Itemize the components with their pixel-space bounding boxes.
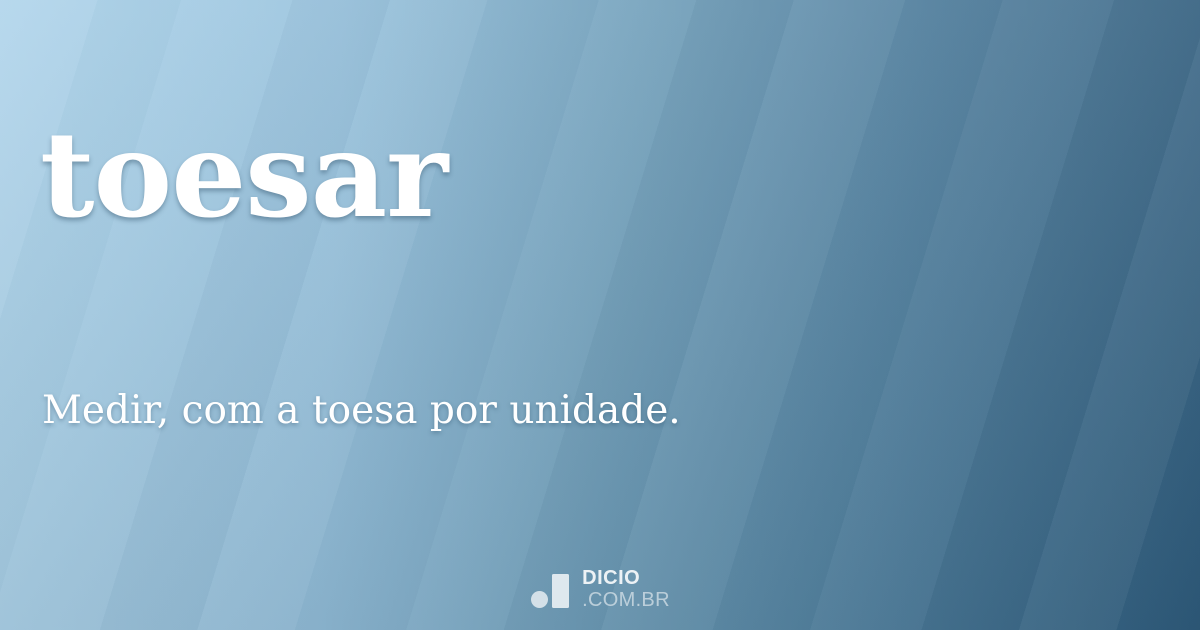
definition-card: toesar Medir, com a toesa por unidade. D… xyxy=(0,0,1200,630)
brand-name: DICIO xyxy=(582,568,670,588)
page-title: toesar xyxy=(40,112,447,237)
brand-footer: DICIO .COM.BR xyxy=(0,566,1200,612)
dicio-logo-mark-icon xyxy=(530,569,570,609)
definition-text: Medir, com a toesa por unidade. xyxy=(42,386,1140,436)
brand-wordmark: DICIO .COM.BR xyxy=(582,568,670,610)
brand-tld: .COM.BR xyxy=(582,590,670,610)
